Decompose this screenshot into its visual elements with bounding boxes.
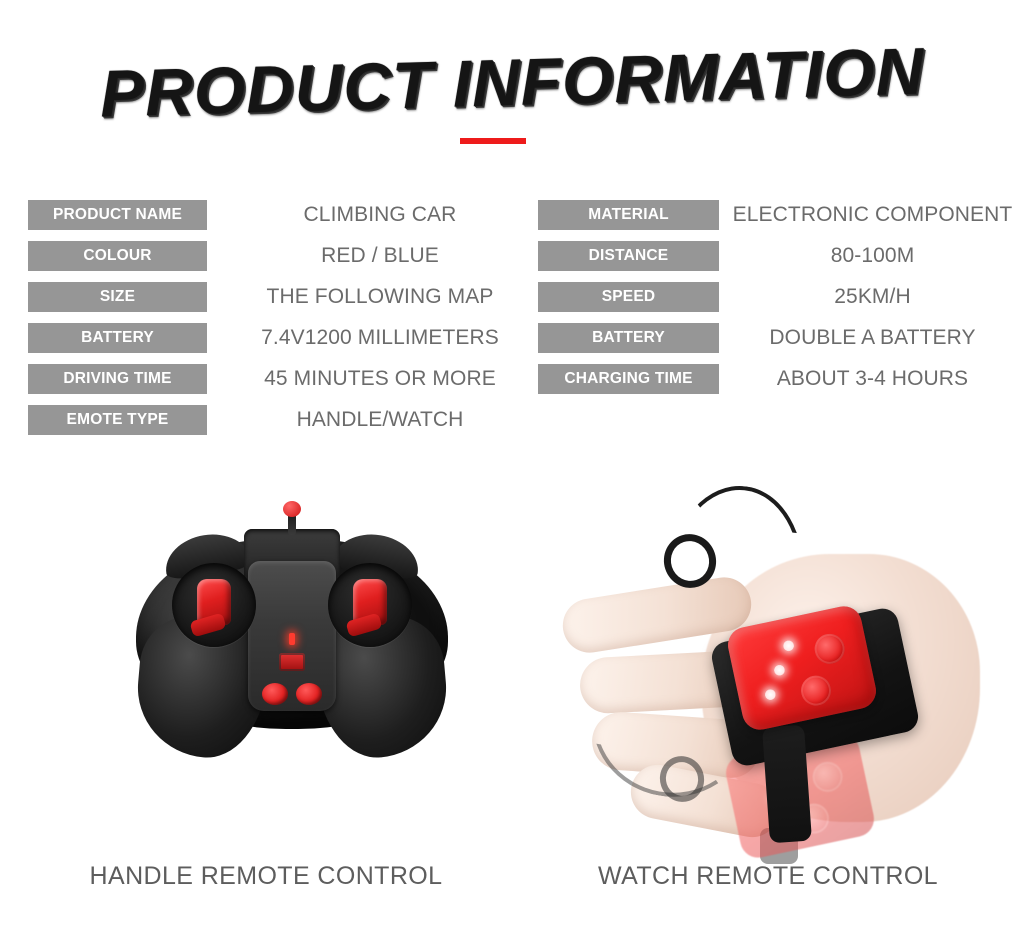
spec-row: BATTERY 7.4V1200 MILLIMETERS	[28, 323, 535, 353]
spec-value-product-name: CLIMBING CAR	[207, 203, 535, 227]
watch-button-1	[812, 631, 848, 667]
spec-row: PRODUCT NAME CLIMBING CAR	[28, 200, 535, 230]
watch-remote-image	[512, 466, 1024, 861]
spec-label-material: MATERIAL	[538, 200, 719, 230]
power-switch	[279, 653, 305, 671]
page-header: PRODUCT INFORMATION	[0, 44, 1024, 124]
spec-column-left: PRODUCT NAME CLIMBING CAR COLOUR RED / B…	[28, 200, 535, 446]
product-watch-remote: WATCH REMOTE CONTROL	[512, 466, 1024, 929]
spec-label-product-name: PRODUCT NAME	[28, 200, 207, 230]
spec-row: DISTANCE 80-100M	[538, 241, 1024, 271]
gamepad-button-right	[296, 683, 322, 705]
spec-label-emote-type: EMOTE TYPE	[28, 405, 207, 435]
watch-led-2	[773, 664, 786, 677]
spec-row: SIZE THE FOLLOWING MAP	[28, 282, 535, 312]
spec-label-speed: SPEED	[538, 282, 719, 312]
spec-value-driving-time: 45 MINUTES OR MORE	[207, 367, 535, 391]
spec-value-battery: 7.4V1200 MILLIMETERS	[207, 326, 535, 350]
spec-value-size: THE FOLLOWING MAP	[207, 285, 535, 309]
spec-column-right: MATERIAL ELECTRONIC COMPONENT DISTANCE 8…	[538, 200, 1024, 405]
reflection-button-1	[810, 759, 846, 795]
spec-label-colour: COLOUR	[28, 241, 207, 271]
spec-label-charging-time: CHARGING TIME	[538, 364, 719, 394]
power-led-indicator	[289, 633, 295, 645]
caption-handle-remote: HANDLE REMOTE CONTROL	[20, 862, 512, 891]
spec-row: COLOUR RED / BLUE	[28, 241, 535, 271]
spec-label-battery-remote: BATTERY	[538, 323, 719, 353]
spec-label-distance: DISTANCE	[538, 241, 719, 271]
spec-value-emote-type: HANDLE/WATCH	[207, 408, 535, 432]
title-accent-underline	[460, 138, 526, 144]
watch-led-3	[764, 688, 777, 701]
spec-value-material: ELECTRONIC COMPONENT	[719, 203, 1024, 227]
handle-remote-image	[20, 466, 512, 861]
spec-label-driving-time: DRIVING TIME	[28, 364, 207, 394]
gamepad-center-panel	[248, 561, 336, 711]
spec-row: EMOTE TYPE HANDLE/WATCH	[28, 405, 535, 435]
spec-label-battery: BATTERY	[28, 323, 207, 353]
spec-value-battery-remote: DOUBLE A BATTERY	[719, 326, 1024, 350]
product-gallery: HANDLE REMOTE CONTROL	[0, 466, 1024, 929]
gamepad-stick-well-left	[172, 563, 256, 647]
spec-value-charging-time: ABOUT 3-4 HOURS	[719, 367, 1024, 391]
gamepad-stick-well-right	[328, 563, 412, 647]
watch-button-2	[798, 673, 834, 709]
hand-illustration	[552, 476, 992, 856]
spec-value-colour: RED / BLUE	[207, 244, 535, 268]
spec-row: CHARGING TIME ABOUT 3-4 HOURS	[538, 364, 1024, 394]
gamepad-joystick-right	[353, 579, 387, 625]
spec-value-distance: 80-100M	[719, 244, 1024, 268]
watch-led-1	[782, 639, 795, 652]
page-title: PRODUCT INFORMATION	[99, 33, 925, 132]
spec-row: MATERIAL ELECTRONIC COMPONENT	[538, 200, 1024, 230]
watch-strap-tail	[762, 725, 812, 844]
antenna-icon	[288, 513, 296, 535]
gamepad-button-left	[262, 683, 288, 705]
spec-row: BATTERY DOUBLE A BATTERY	[538, 323, 1024, 353]
gamepad-illustration	[136, 521, 448, 771]
gamepad-joystick-left	[197, 579, 231, 625]
spec-row: DRIVING TIME 45 MINUTES OR MORE	[28, 364, 535, 394]
caption-watch-remote: WATCH REMOTE CONTROL	[512, 862, 1024, 891]
spec-value-speed: 25KM/H	[719, 285, 1024, 309]
spec-row: SPEED 25KM/H	[538, 282, 1024, 312]
spec-label-size: SIZE	[28, 282, 207, 312]
product-handle-remote: HANDLE REMOTE CONTROL	[20, 466, 512, 929]
